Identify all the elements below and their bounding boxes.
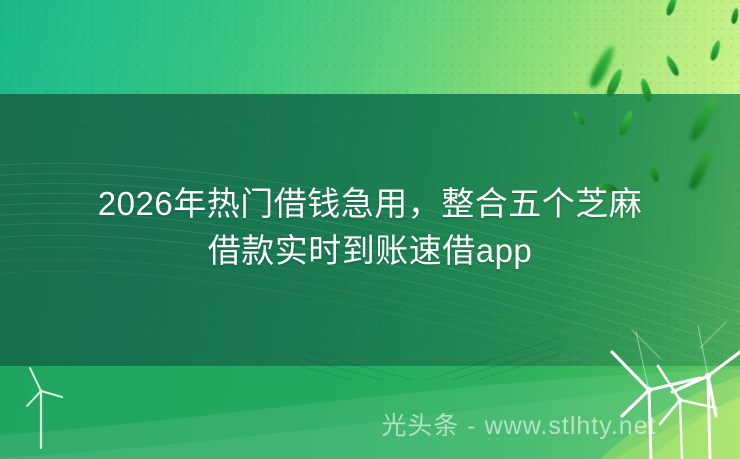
background-band-top — [0, 0, 740, 94]
promo-banner-poster: 2026年热门借钱急用，整合五个芝麻 借款实时到账速借app 光头条 - www… — [0, 0, 740, 459]
background-band-bottom — [0, 366, 740, 459]
background-band-middle — [0, 94, 740, 366]
